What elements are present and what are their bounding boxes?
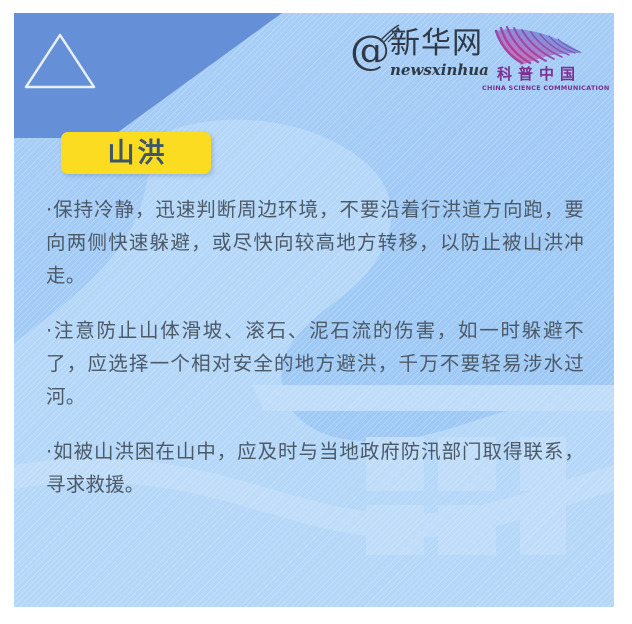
advice-list: ·保持冷静，迅速判断周边环境，不要沿着行洪道方向跑，要向两侧快速躲避，或尽快向较… — [46, 193, 584, 501]
xinhua-name-en: newsxinhua — [390, 63, 489, 78]
advice-item: ·如被山洪困在山中，应及时与当地政府防汛部门取得联系，寻求救援。 — [46, 435, 584, 501]
triangle-icon — [20, 27, 100, 95]
advice-item: ·保持冷静，迅速判断周边环境，不要沿着行洪道方向跑，要向两侧快速躲避，或尽快向较… — [46, 193, 584, 292]
advice-item: ·注意防止山体滑坡、滚石、泥石流的伤害，如一时躲避不了，应选择一个相对安全的地方… — [46, 314, 584, 413]
kepu-name-cn: 科普中国 — [482, 67, 590, 82]
xinhua-name-cn: 新华网 — [390, 29, 483, 59]
at-symbol-icon: @ — [350, 31, 390, 71]
logo-group: @ 新华网 newsxinhua — [350, 23, 590, 97]
kepu-name-en: CHINA SCIENCE COMMUNICATION — [482, 85, 590, 92]
kepu-china-logo: 科普中国 CHINA SCIENCE COMMUNICATION — [482, 23, 590, 97]
infographic-poster: @ 新华网 newsxinhua — [14, 13, 614, 607]
fan-wing-icon — [488, 23, 584, 71]
xinhua-logo: @ 新华网 newsxinhua — [350, 23, 472, 85]
topic-badge: 山洪 — [61, 132, 211, 174]
topic-badge-label: 山洪 — [105, 140, 168, 167]
